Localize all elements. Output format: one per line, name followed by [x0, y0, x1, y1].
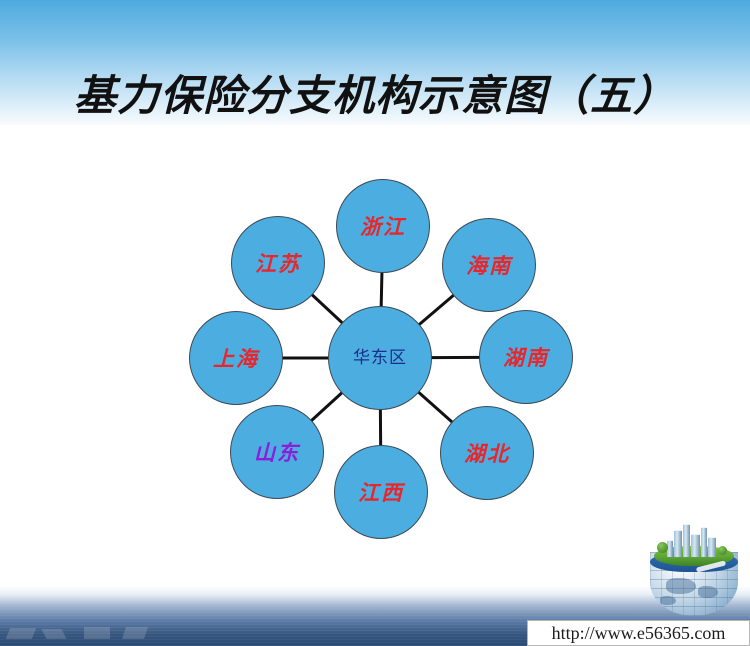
org-structure-diagram: 华东区浙江海南湖南湖北江西山东上海江苏 — [0, 0, 750, 646]
node-label: 浙江 — [360, 216, 406, 237]
diagram-node-江西[interactable]: 江西 — [334, 445, 428, 539]
tree-icon — [657, 542, 668, 553]
node-label: 湖南 — [503, 347, 549, 368]
connector-line-江苏 — [312, 294, 343, 323]
diagram-node-center[interactable]: 华东区 — [328, 306, 432, 410]
building-icon — [708, 537, 716, 557]
node-label: 山东 — [254, 442, 300, 463]
building-icon — [691, 534, 700, 557]
node-label: 海南 — [466, 255, 512, 276]
node-label: 江苏 — [255, 253, 301, 274]
diagram-node-海南[interactable]: 海南 — [442, 218, 536, 312]
connector-line-山东 — [311, 392, 342, 421]
connector-line-湖北 — [418, 392, 452, 423]
diagram-node-山东[interactable]: 山东 — [230, 405, 324, 499]
node-label: 湖北 — [464, 443, 510, 464]
node-label: 上海 — [213, 348, 259, 369]
node-label: 江西 — [358, 482, 404, 503]
tree-icon — [718, 546, 727, 555]
watermark-url-box: http://www.e56365.com — [527, 620, 750, 646]
earth-city-globe-logo — [644, 524, 744, 620]
diagram-node-湖北[interactable]: 湖北 — [440, 406, 534, 500]
slide-canvas: 基力保险分支机构示意图（五） 华东区浙江海南湖南湖北江西山东上海江苏 http:… — [0, 0, 750, 646]
diagram-node-浙江[interactable]: 浙江 — [336, 179, 430, 273]
diagram-node-江苏[interactable]: 江苏 — [231, 216, 325, 310]
watermark-url-text: http://www.e56365.com — [552, 623, 726, 644]
diagram-node-湖南[interactable]: 湖南 — [479, 310, 573, 404]
building-icon — [674, 530, 682, 557]
connector-line-浙江 — [381, 272, 382, 307]
connector-line-海南 — [419, 295, 454, 325]
node-label: 华东区 — [353, 350, 407, 367]
diagram-node-上海[interactable]: 上海 — [189, 311, 283, 405]
building-icon — [701, 527, 707, 557]
building-icon — [683, 524, 690, 557]
